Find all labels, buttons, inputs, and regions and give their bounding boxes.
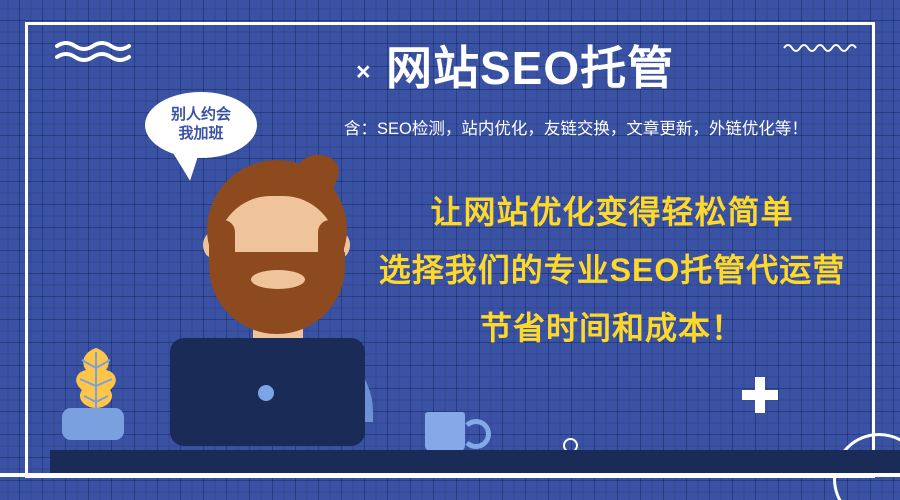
plant-pot (62, 408, 124, 440)
speech-bubble: 别人约会 我加班 (145, 92, 257, 158)
x-mark-icon: × (356, 60, 371, 85)
slogan-line-3: 节省时间和成本！ (340, 312, 884, 344)
speech-bubble-line-1: 别人约会 (171, 106, 231, 125)
slogan-list: 让网站优化变得轻松简单 选择我们的专业SEO托管代运营 节省时间和成本！ (340, 196, 884, 344)
person-mouth (251, 270, 305, 289)
seo-hosting-poster: × 网站SEO托管 含：SEO检测，站内优化，友链交换，文章更新，外链优化等！ … (0, 0, 900, 500)
coffee-mug-icon (425, 412, 465, 452)
laptop-logo-dot (258, 385, 274, 401)
wave-lines-icon (55, 40, 133, 62)
plus-icon (742, 377, 778, 413)
slogan-line-2: 选择我们的专业SEO托管代运营 (340, 254, 884, 286)
wave-line-icon (783, 40, 861, 54)
desk-edge-line (0, 473, 900, 477)
coffee-mug-handle (461, 419, 491, 449)
page-title: 网站SEO托管 (386, 44, 674, 92)
slogan-line-1: 让网站优化变得轻松简单 (340, 196, 884, 228)
person-beard (209, 252, 345, 334)
potted-plant-icon (66, 346, 126, 416)
speech-bubble-line-2: 我加班 (178, 125, 223, 144)
page-subtitle: 含：SEO检测，站内优化，友链交换，文章更新，外链优化等！ (344, 120, 808, 140)
